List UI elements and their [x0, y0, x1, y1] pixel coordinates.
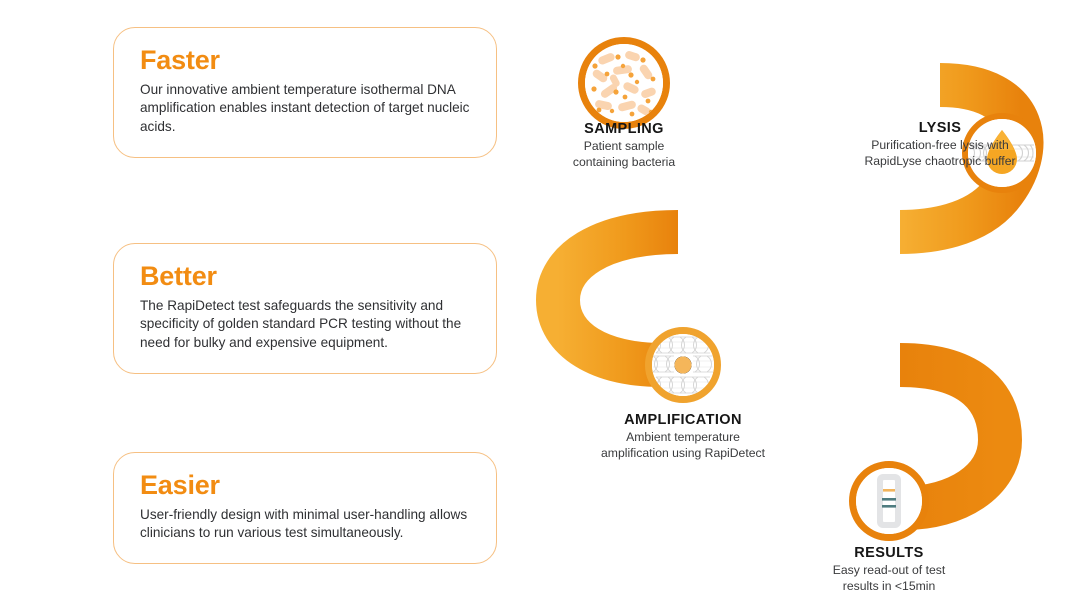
lysis-title: LYSIS: [790, 120, 1080, 136]
card-body-easier: User-friendly design with minimal user-h…: [140, 506, 470, 544]
infographic-canvas: Faster Our innovative ambient temperatur…: [0, 0, 1080, 608]
bacteria-icon: [585, 44, 663, 122]
card-title-easier: Easier: [140, 471, 470, 501]
sampling-node-circle: [578, 37, 670, 129]
results-title: RESULTS: [776, 545, 1002, 561]
amplification-labels: AMPLIFICATION Ambient temperature amplif…: [568, 412, 798, 461]
lysis-desc: Purification-free lysis with RapidLyse c…: [790, 138, 1080, 169]
dna-grid-icon: [652, 334, 714, 396]
sampling-desc: Patient sample containing bacteria: [520, 139, 728, 170]
results-labels: RESULTS Easy read-out of test results in…: [776, 545, 1002, 594]
results-node-circle: [849, 461, 929, 541]
amplification-desc: Ambient temperature amplification using …: [568, 430, 798, 461]
card-body-better: The RapiDetect test safeguards the sensi…: [140, 297, 470, 353]
amplification-title: AMPLIFICATION: [568, 412, 798, 428]
sampling-title: SAMPLING: [520, 121, 728, 137]
card-title-faster: Faster: [140, 46, 470, 76]
benefit-card-better: Better The RapiDetect test safeguards th…: [113, 243, 497, 374]
amplification-node-circle: [645, 327, 721, 403]
test-cassette-icon: [856, 468, 922, 534]
results-desc: Easy read-out of test results in <15min: [776, 563, 1002, 594]
sampling-labels: SAMPLING Patient sample containing bacte…: [520, 121, 728, 170]
lysis-labels: LYSIS Purification-free lysis with Rapid…: [790, 120, 1080, 169]
benefit-card-faster: Faster Our innovative ambient temperatur…: [113, 27, 497, 158]
card-body-faster: Our innovative ambient temperature isoth…: [140, 81, 470, 137]
benefit-card-easier: Easier User-friendly design with minimal…: [113, 452, 497, 564]
card-title-better: Better: [140, 262, 470, 292]
